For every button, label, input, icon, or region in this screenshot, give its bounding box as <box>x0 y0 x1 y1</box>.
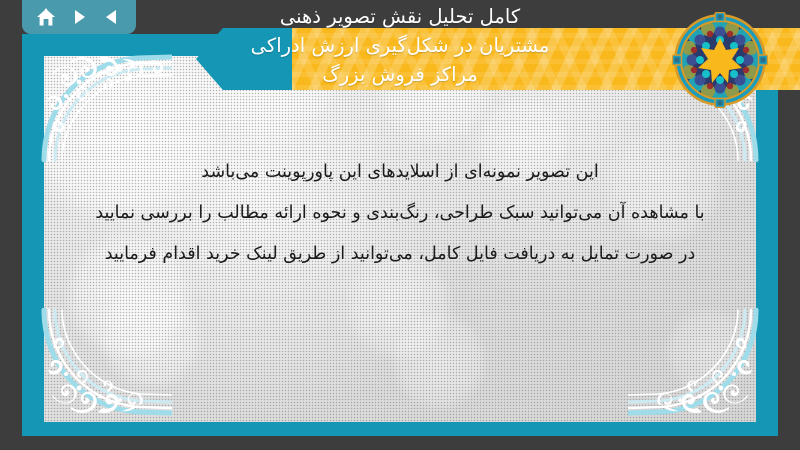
prev-slide-button[interactable] <box>99 5 125 29</box>
slide-card: این تصویر نمونه‌ای از اسلایدهای این پاور… <box>22 34 778 436</box>
body-line: با مشاهده آن می‌توانید سبک طراحی، رنگ‌بن… <box>68 193 732 234</box>
bokeh-circle <box>389 311 489 411</box>
next-slide-button[interactable] <box>66 5 92 29</box>
bokeh-circle <box>194 56 344 146</box>
body-line: این تصویر نمونه‌ای از اسلایدهای این پاور… <box>68 152 732 193</box>
triangle-right-icon <box>70 8 88 26</box>
triangle-left-icon <box>103 8 121 26</box>
bokeh-circle <box>374 56 494 146</box>
slide-viewer: این تصویر نمونه‌ای از اسلایدهای این پاور… <box>0 0 800 450</box>
body-line: در صورت تمایل به دریافت فایل کامل، می‌تو… <box>68 234 732 275</box>
slide-navigation-bar[interactable] <box>22 0 136 34</box>
home-icon <box>36 8 56 27</box>
bokeh-circle <box>99 286 204 391</box>
slide-body-text: این تصویر نمونه‌ای از اسلایدهای این پاور… <box>68 152 732 275</box>
bokeh-circle <box>664 306 754 396</box>
home-button[interactable] <box>33 5 59 29</box>
